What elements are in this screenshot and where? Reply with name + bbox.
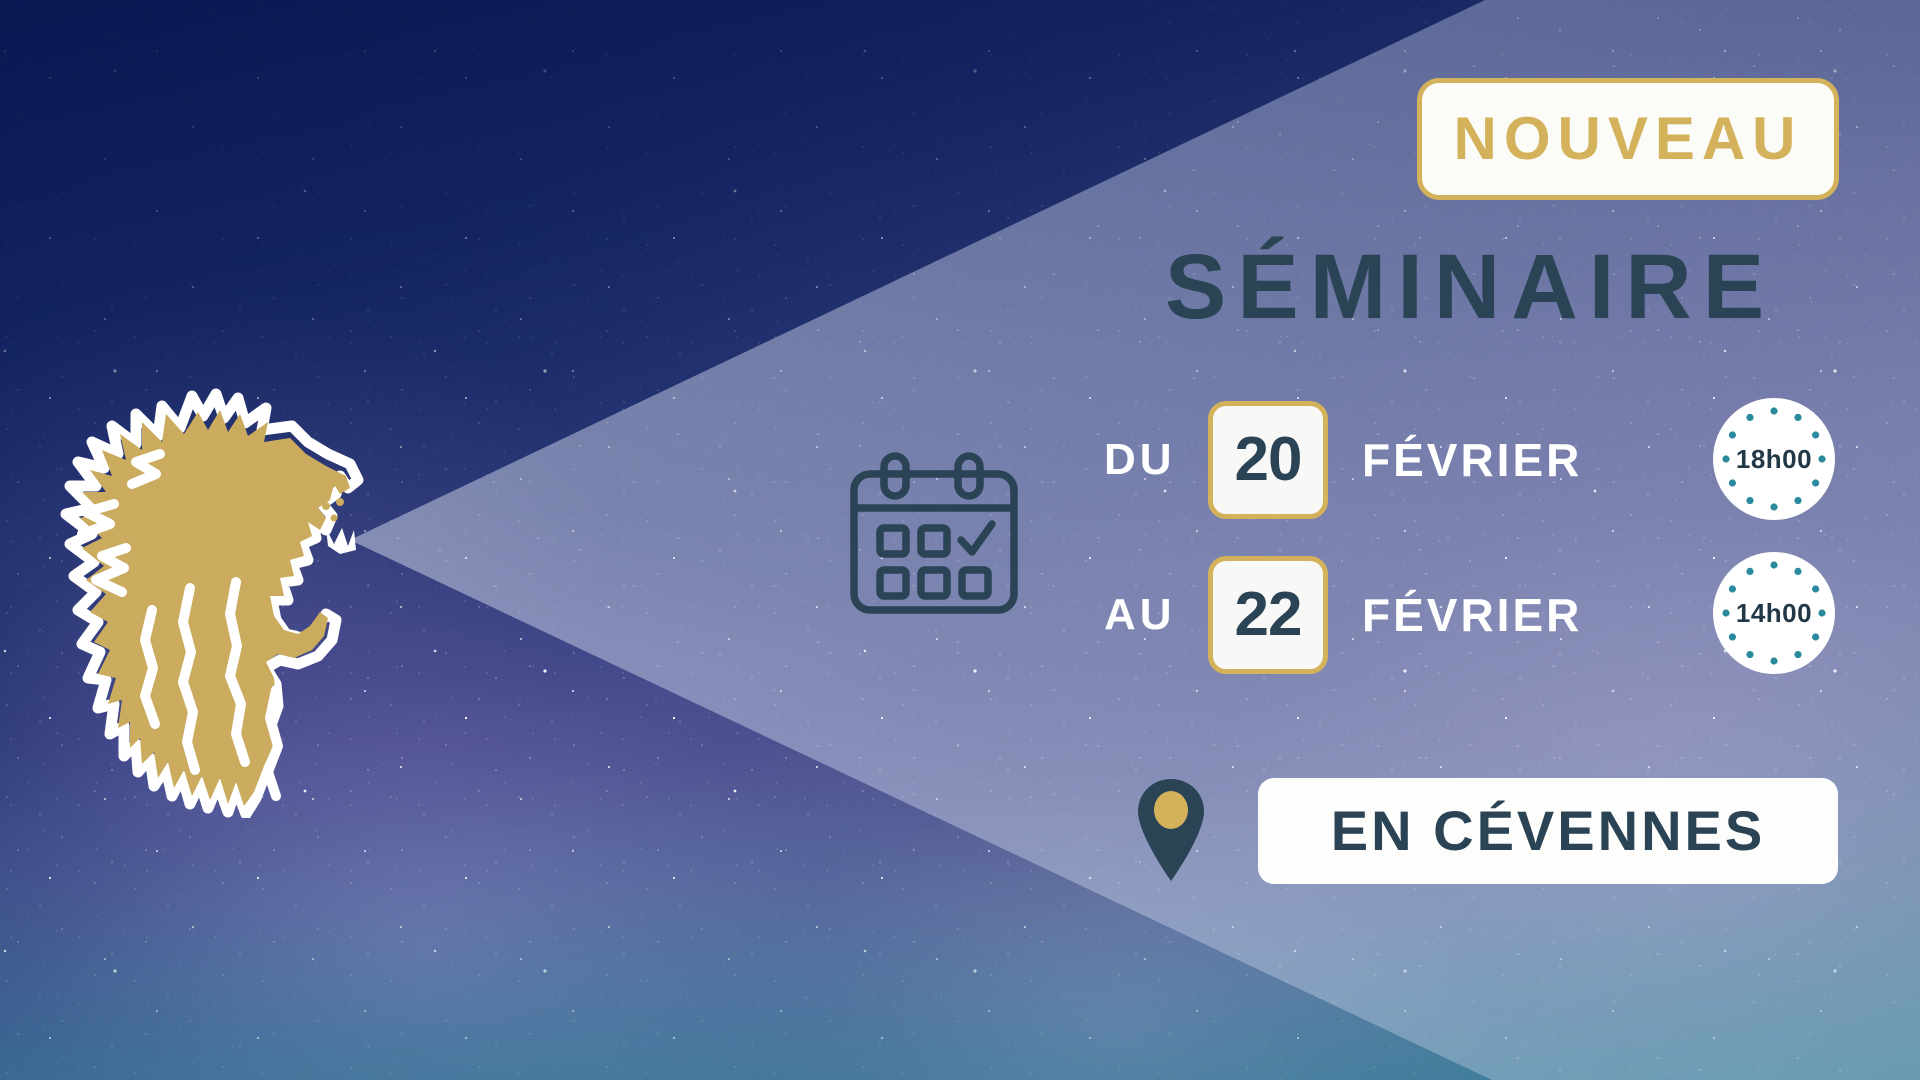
- calendar-check-icon: [848, 452, 1020, 618]
- location-banner: EN CÉVENNES: [1258, 778, 1838, 884]
- poster-canvas: NOUVEAU SÉMINAIRE DU 20 FÉVRIER: [0, 0, 1920, 1080]
- clock-time-label: 18h00: [1713, 398, 1835, 520]
- clock-badge: 18h00: [1713, 398, 1835, 520]
- map-pin-icon: [1135, 777, 1207, 883]
- location-label: EN CÉVENNES: [1331, 803, 1765, 859]
- date-prefix: DU: [1104, 438, 1208, 482]
- date-day-value: 22: [1235, 584, 1302, 646]
- nouveau-badge-label: NOUVEAU: [1453, 109, 1802, 169]
- date-row: DU 20 FÉVRIER: [1104, 400, 1582, 520]
- date-day-value: 20: [1235, 429, 1302, 491]
- clock-time-label: 14h00: [1713, 552, 1835, 674]
- lion-head-logo: [40, 368, 380, 818]
- date-day-chip: 20: [1208, 401, 1328, 519]
- nouveau-badge: NOUVEAU: [1417, 78, 1839, 200]
- date-prefix: AU: [1104, 593, 1208, 637]
- date-row: AU 22 FÉVRIER: [1104, 555, 1582, 675]
- date-month: FÉVRIER: [1362, 437, 1582, 483]
- clock-badge: 14h00: [1713, 552, 1835, 674]
- date-day-chip: 22: [1208, 556, 1328, 674]
- date-month: FÉVRIER: [1362, 592, 1582, 638]
- page-title: SÉMINAIRE: [1100, 232, 1840, 342]
